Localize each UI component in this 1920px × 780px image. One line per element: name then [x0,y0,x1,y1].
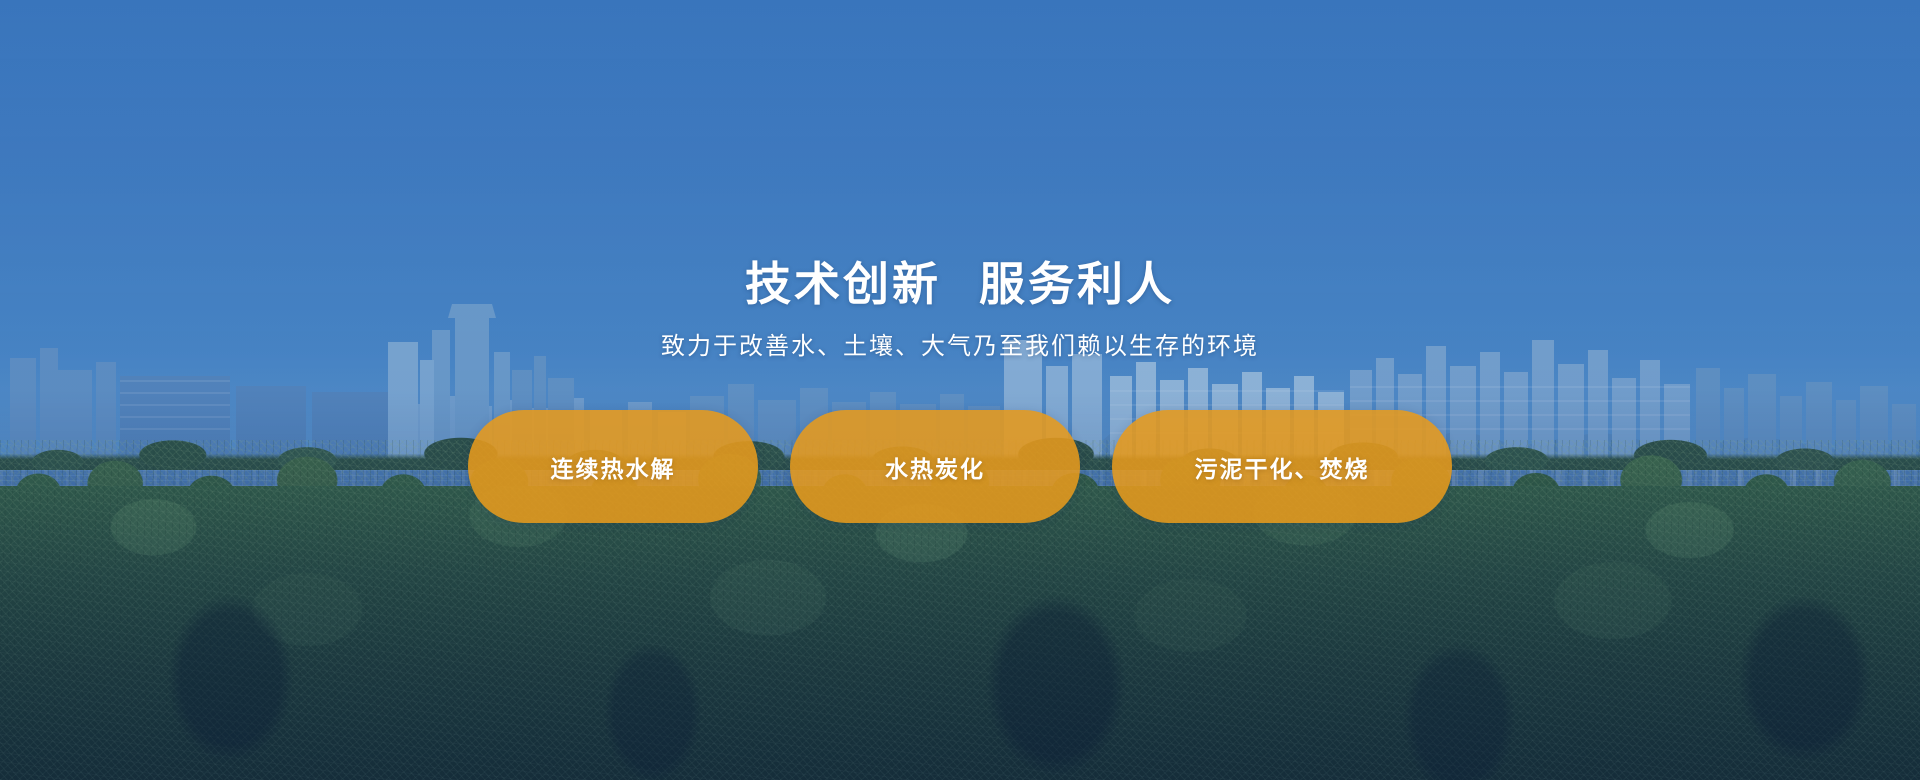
page-title: 技术创新 服务利人 [745,258,1175,311]
hero-content: 技术创新 服务利人 致力于改善水、土壤、大气乃至我们赖以生存的环境 连续热水解 … [0,0,1920,780]
tech-button-continuous-thermal-hydrolysis[interactable]: 连续热水解 [468,410,758,523]
tech-button-label: 污泥干化、焚烧 [1195,450,1370,484]
hero-banner: 技术创新 服务利人 致力于改善水、土壤、大气乃至我们赖以生存的环境 连续热水解 … [0,0,1920,780]
page-subtitle: 致力于改善水、土壤、大气乃至我们赖以生存的环境 [661,331,1259,362]
tech-button-sludge-drying-incineration[interactable]: 污泥干化、焚烧 [1112,410,1452,523]
tech-button-label: 连续热水解 [551,450,676,484]
technology-button-row: 连续热水解 水热炭化 污泥干化、焚烧 [468,410,1452,523]
tech-button-label: 水热炭化 [885,450,985,484]
tech-button-hydrothermal-carbonization[interactable]: 水热炭化 [790,410,1080,523]
